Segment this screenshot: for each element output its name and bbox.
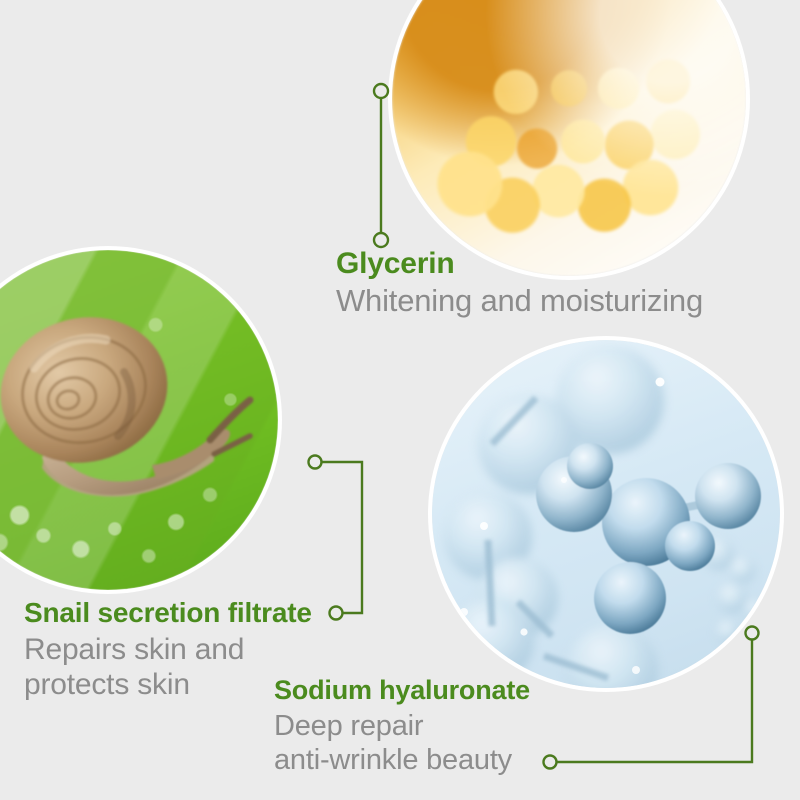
snail-illustration [0, 250, 278, 590]
callout-sodium: Sodium hyaluronate Deep repair anti-wrin… [274, 675, 530, 777]
callout-snail: Snail secretion filtrate Repairs skin an… [24, 597, 312, 702]
sodium-subtitle: Deep repair anti-wrinkle beauty [274, 709, 530, 777]
snail-image-circle [0, 250, 278, 590]
snail-title: Snail secretion filtrate [24, 597, 312, 629]
glycerin-highlight [392, 0, 746, 276]
glycerin-image-circle [392, 0, 746, 276]
sodium-title: Sodium hyaluronate [274, 675, 530, 706]
molecule-illustration [432, 340, 780, 688]
glycerin-title: Glycerin [336, 247, 703, 281]
ingredient-infographic: Glycerin Whitening and moisturizing Snai… [0, 0, 800, 800]
sodium-hyaluronate-image-circle [432, 340, 780, 688]
callout-glycerin: Glycerin Whitening and moisturizing [336, 247, 703, 319]
glycerin-subtitle: Whitening and moisturizing [336, 283, 703, 319]
snail-subtitle: Repairs skin and protects skin [24, 632, 312, 702]
